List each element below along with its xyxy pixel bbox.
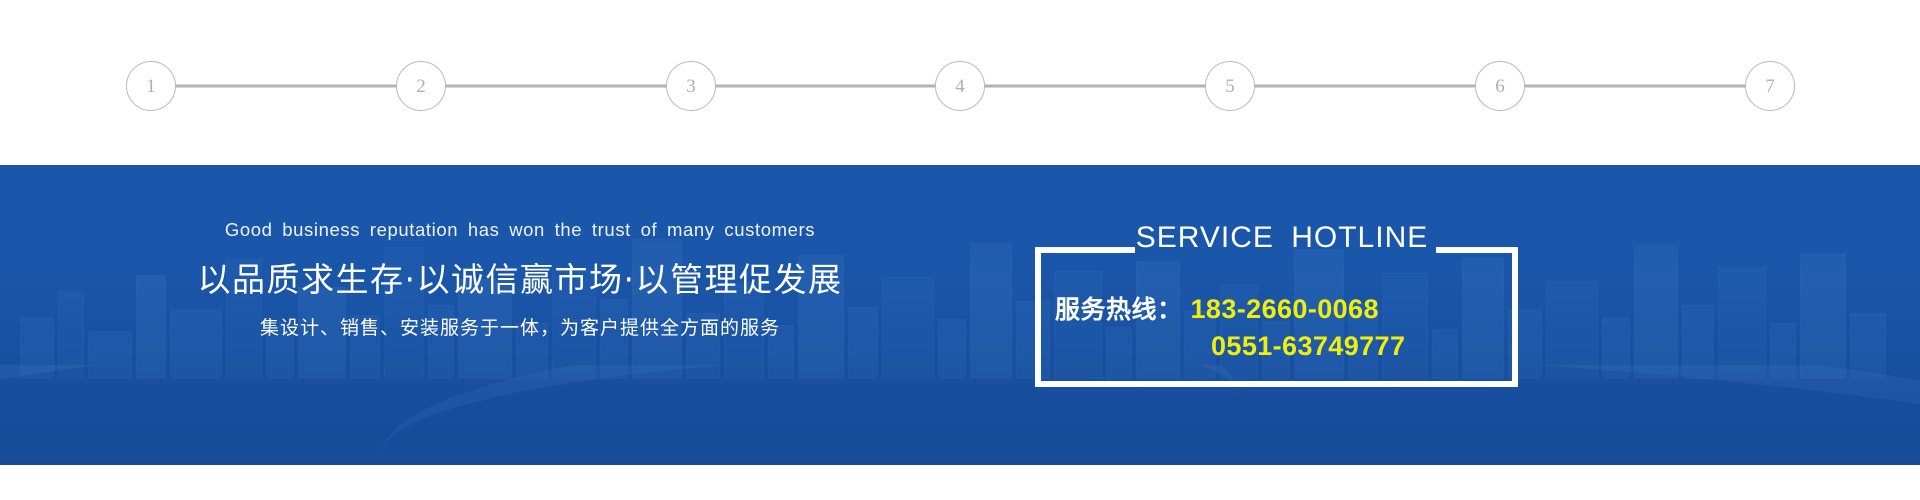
step-progress-bar: 1 2 3 4 5 6 7: [0, 0, 1920, 165]
hotline-numbers: 服务热线： 183-2660-0068 0551-63749777: [1035, 293, 1518, 363]
step-label: 6: [1495, 77, 1505, 96]
slogan-chinese-sub: 集设计、销售、安装服务于一体，为客户提供全方面的服务: [0, 316, 1040, 341]
step-label: 5: [1225, 77, 1235, 96]
hotline-number-landline[interactable]: 0551-63749777: [1211, 330, 1405, 363]
page-root: 1 2 3 4 5 6 7: [0, 0, 1920, 500]
step-label: 4: [955, 77, 965, 96]
slogan-block: Good business reputation has won the tru…: [0, 219, 1040, 341]
step-node-6[interactable]: 6: [1475, 61, 1525, 111]
step-label: 3: [686, 77, 696, 96]
hotline-frame-bottom: [1035, 381, 1518, 387]
step-node-2[interactable]: 2: [396, 61, 446, 111]
service-hotline-card: SERVICE HOTLINE 服务热线： 183-2660-0068 0551…: [1035, 247, 1518, 387]
step-label: 7: [1765, 77, 1775, 96]
hotline-label: 服务热线：: [1055, 295, 1183, 326]
hotline-title: SERVICE HOTLINE: [1127, 223, 1437, 253]
blue-promo-banner: Good business reputation has won the tru…: [0, 165, 1920, 465]
step-node-1[interactable]: 1: [126, 61, 176, 111]
slogan-english-line: Good business reputation has won the tru…: [0, 219, 1040, 241]
step-node-5[interactable]: 5: [1205, 61, 1255, 111]
step-label: 1: [146, 77, 156, 96]
slogan-chinese-main: 以品质求生存·以诚信赢市场·以管理促发展: [0, 259, 1040, 300]
step-label: 2: [416, 77, 426, 96]
step-node-3[interactable]: 3: [666, 61, 716, 111]
hotline-row-primary: 服务热线： 183-2660-0068: [1055, 293, 1504, 326]
step-node-4[interactable]: 4: [935, 61, 985, 111]
step-node-7[interactable]: 7: [1745, 61, 1795, 111]
hotline-number-mobile[interactable]: 183-2660-0068: [1191, 293, 1379, 326]
hotline-row-secondary: 0551-63749777: [1055, 330, 1504, 363]
hotline-frame-top-right: [1436, 247, 1518, 253]
hotline-frame-top-left: [1035, 247, 1135, 253]
